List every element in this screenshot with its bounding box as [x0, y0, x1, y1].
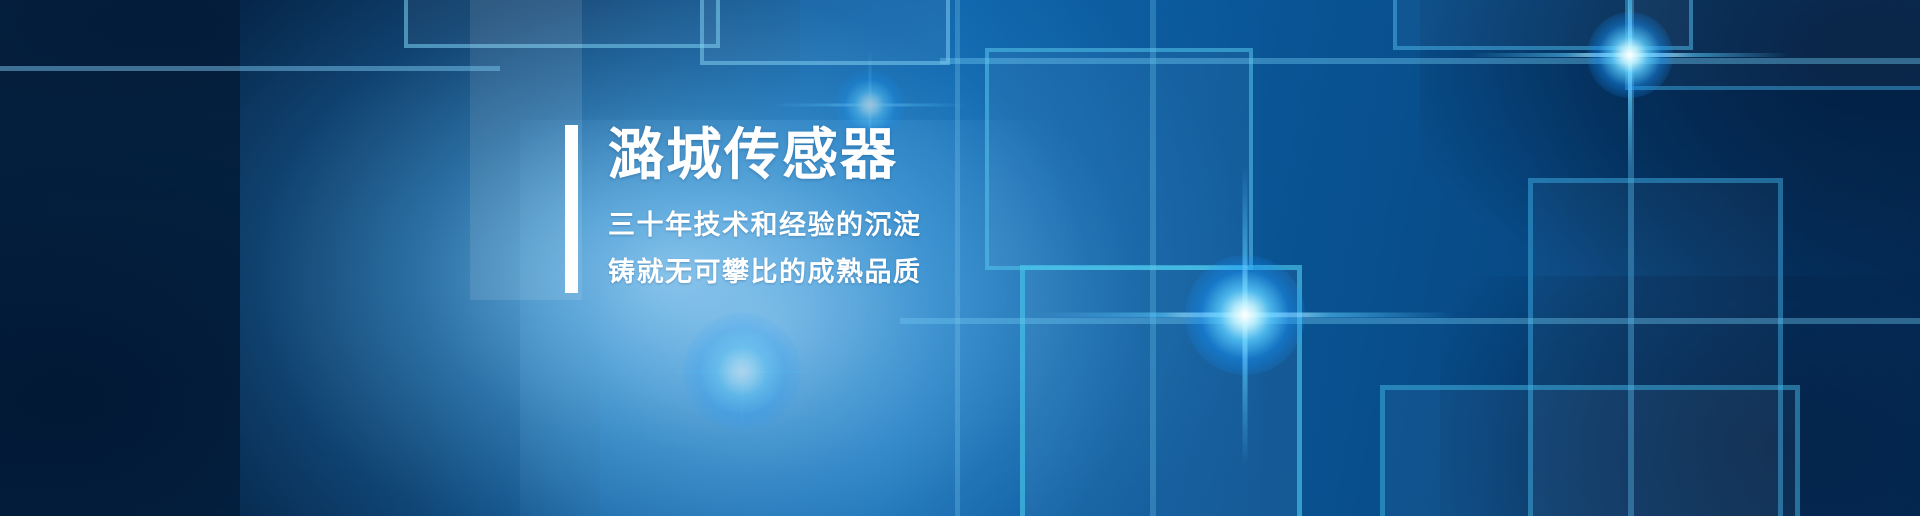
- banner-text-block: 潞城传感器 三十年技术和经验的沉淀 铸就无可攀比的成熟品质: [565, 125, 922, 293]
- background-shade-bottom-right: [1440, 276, 1920, 516]
- banner-text-column: 潞城传感器 三十年技术和经验的沉淀 铸就无可攀比的成熟品质: [608, 125, 922, 293]
- banner-subtitle-line-2: 铸就无可攀比的成熟品质: [608, 259, 922, 286]
- banner-subtitle-line-1: 三十年技术和经验的沉淀: [608, 212, 922, 239]
- background-shade-top-right: [1420, 0, 1920, 300]
- accent-bar: [565, 125, 578, 293]
- hero-banner: 潞城传感器 三十年技术和经验的沉淀 铸就无可攀比的成熟品质: [0, 0, 1920, 516]
- banner-headline: 潞城传感器: [608, 127, 922, 183]
